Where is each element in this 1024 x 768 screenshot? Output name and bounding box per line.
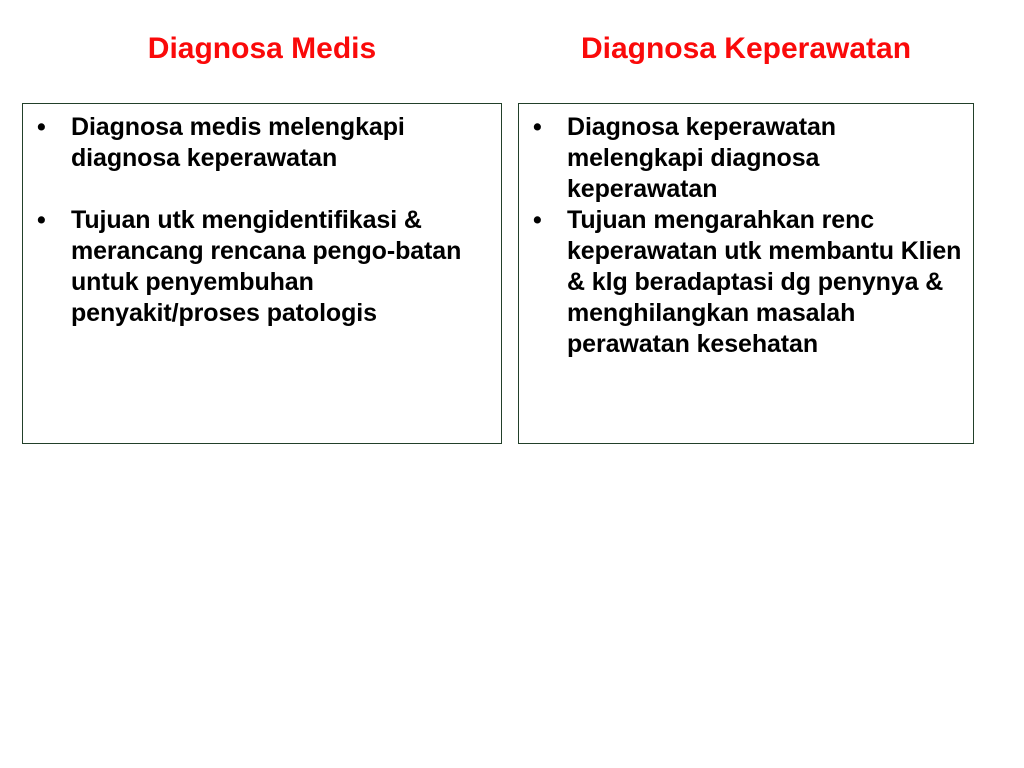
list-item-text: Diagnosa keperawatan melengkapi diagnosa… — [567, 113, 836, 203]
list-item: • Diagnosa medis melengkapi diagnosa kep… — [23, 112, 501, 174]
list-item-text: Tujuan mengarahkan renc keperawatan utk … — [567, 206, 961, 358]
list-item-text: Tujuan utk mengidentifikasi & merancang … — [71, 206, 461, 327]
list-item: • Tujuan mengarahkan renc keperawatan ut… — [519, 205, 973, 360]
list-item: • Tujuan utk mengidentifikasi & merancan… — [23, 205, 501, 329]
content-box-diagnosa-medis: • Diagnosa medis melengkapi diagnosa kep… — [22, 103, 502, 444]
bullet-dot-icon: • — [533, 112, 547, 143]
list-item-text: Diagnosa medis melengkapi diagnosa keper… — [71, 113, 405, 172]
bullet-dot-icon: • — [533, 205, 547, 236]
list-item: • Diagnosa keperawatan melengkapi diagno… — [519, 112, 973, 205]
bullet-dot-icon: • — [37, 112, 51, 143]
bullet-list-diagnosa-keperawatan: • Diagnosa keperawatan melengkapi diagno… — [519, 112, 973, 360]
page-title-diagnosa-keperawatan: Diagnosa Keperawatan — [518, 32, 974, 66]
page-title-diagnosa-medis: Diagnosa Medis — [22, 32, 502, 66]
content-box-diagnosa-keperawatan: • Diagnosa keperawatan melengkapi diagno… — [518, 103, 974, 444]
bullet-list-diagnosa-medis: • Diagnosa medis melengkapi diagnosa kep… — [23, 112, 501, 329]
bullet-dot-icon: • — [37, 205, 51, 236]
